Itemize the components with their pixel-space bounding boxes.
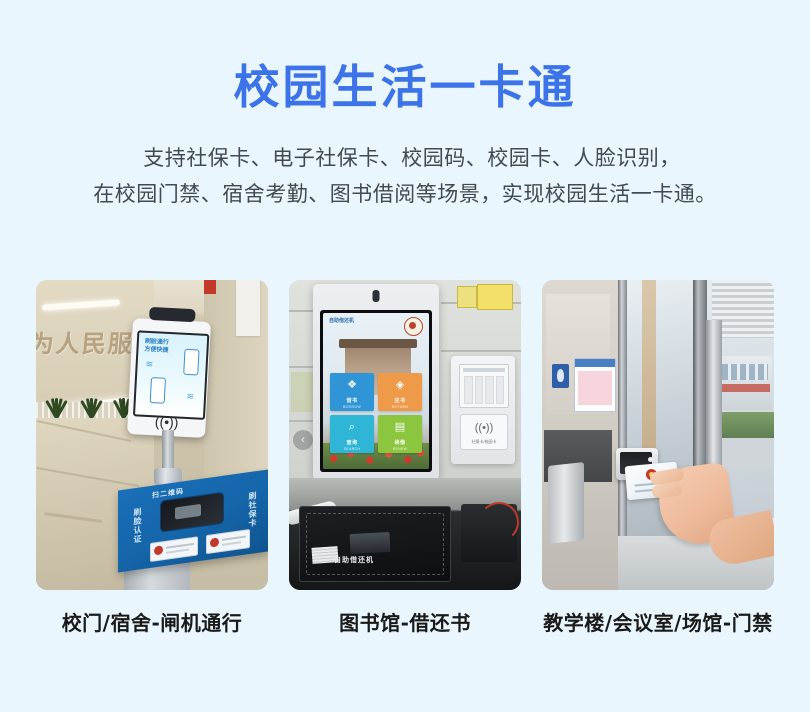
tile-label: 还书 (378, 397, 422, 404)
potted-plant (79, 392, 105, 418)
subtitle-line-2: 在校园门禁、宿舍考勤、图书借阅等场景，实现校园生活一卡通。 (0, 176, 810, 212)
gate-right-hint: 刷社保卡 (247, 491, 258, 529)
posted-paper-notice (236, 280, 260, 336)
face-recognition-terminal[interactable]: 刷脸通行方便快捷 ≋ ≋ ((•)) (127, 318, 211, 438)
poster-header (575, 359, 615, 367)
card-tap-pad[interactable]: ((•)) 社保卡/校园卡 (460, 414, 508, 450)
card-caption: 校门/宿舍-闸机通行 (36, 607, 268, 636)
subtitle-line-1: 支持社保卡、电子社保卡、校园码、校园卡、人脸识别， (0, 140, 810, 176)
card-text-line (222, 536, 246, 541)
phone-illustration (183, 349, 199, 376)
tile-sublabel: BORROW (330, 405, 374, 409)
kiosk-tile-renew[interactable]: ▤ 续借 RENEW (378, 415, 422, 453)
book-on-platform (350, 532, 391, 554)
scanner-glint (175, 504, 201, 520)
device-brand-text: 自助借还机 (334, 555, 374, 565)
wifi-wave-icon: ≋ (186, 391, 194, 402)
screen-header-text: 自助借还机 (329, 318, 354, 325)
red-cable (479, 502, 519, 542)
shelf-edge (441, 350, 521, 352)
search-icon: ⌕ (349, 422, 355, 433)
terminal-screen[interactable]: 刷脸通行方便快捷 ≋ ≋ (133, 330, 209, 420)
scenario-card-gate: 为人民服务 (36, 280, 268, 636)
red-notice-tag (204, 280, 216, 294)
wall-card-reader-panel[interactable]: ((•)) 社保卡/校园卡 (451, 356, 515, 464)
back-arrow-icon: ‹ (293, 430, 313, 450)
kiosk-screen[interactable]: 自助借还机 ❖ 借书 BORROW (323, 313, 429, 469)
emblem-dot-icon (210, 537, 219, 547)
card-sample-image (150, 536, 198, 562)
photo-door-access (542, 280, 774, 590)
kiosk-tile-grid: ❖ 借书 BORROW ◈ 还书 RETURN (330, 373, 422, 453)
instruction-board (459, 364, 509, 408)
page-title: 校园生活一卡通 (0, 0, 810, 110)
card-caption: 图书馆-借还书 (289, 607, 521, 636)
potted-plant (44, 392, 70, 418)
school-emblem-icon (404, 317, 423, 336)
card-caption: 教学楼/会议室/场馆-门禁 (542, 607, 774, 636)
gate-left-hint: 刷脸认证 (132, 507, 143, 545)
card-text-line (166, 549, 189, 554)
kiosk-screen-bezel: 自助借还机 ❖ 借书 BORROW (320, 310, 432, 472)
poster-body (578, 371, 612, 405)
tile-label: 续借 (378, 439, 422, 446)
photo-gate-turnstile: 为人民服务 (36, 280, 268, 590)
scenario-card-list: 为人民服务 (0, 280, 810, 636)
indoor-turnstile (548, 462, 584, 544)
scenario-card-library: ‹ 自助借还机 ❖ 借书 (289, 280, 521, 636)
reader-label: 社保卡/校园卡 (461, 439, 507, 445)
camera-icon (373, 290, 380, 302)
book-scan-platform[interactable]: 自助借还机 (299, 506, 451, 582)
board-header (463, 368, 505, 372)
restroom-sign-icon (552, 364, 569, 388)
card-text-line (166, 543, 194, 549)
reader-indicator-icon (648, 457, 653, 462)
poster-page: 校园生活一卡通 支持社保卡、电子社保卡、校园码、校园卡、人脸识别， 在校园门禁、… (0, 0, 810, 712)
board-columns (464, 376, 504, 404)
yellow-sign (457, 286, 477, 308)
kiosk-tile-search[interactable]: ⌕ 查询 SEARCH (330, 415, 374, 453)
card-text-line (222, 541, 241, 546)
wall-notice-poster (574, 358, 616, 412)
card-icon: ▤ (395, 422, 405, 433)
scenario-card-access: 教学楼/会议室/场馆-门禁 (542, 280, 774, 636)
tile-label: 查询 (330, 439, 374, 446)
self-service-kiosk[interactable]: 自助借还机 ❖ 借书 BORROW (313, 284, 439, 480)
box-icon: ◈ (396, 380, 404, 391)
nfc-icon: ((•)) (475, 422, 494, 434)
card-sample-image (206, 529, 250, 554)
emblem-dot-icon (154, 545, 163, 555)
outdoor-windows (722, 364, 768, 380)
kiosk-tile-return[interactable]: ◈ 还书 RETURN (378, 373, 422, 411)
phone-illustration (150, 377, 166, 404)
yellow-sign (477, 284, 513, 310)
camera-icon (149, 307, 196, 322)
outdoor-red-banner (722, 384, 770, 392)
terminal-screen-text: 刷脸通行方便快捷 (144, 338, 169, 355)
tile-label: 借书 (330, 397, 374, 404)
tile-sublabel: RENEW (378, 447, 422, 451)
photo-library-kiosk: ‹ 自助借还机 ❖ 借书 (289, 280, 521, 590)
book-icon: ❖ (347, 380, 357, 391)
tile-sublabel: SEARCH (330, 447, 374, 451)
page-subtitle: 支持社保卡、电子社保卡、校园码、校园卡、人脸识别， 在校园门禁、宿舍考勤、图书借… (0, 110, 810, 212)
kiosk-tile-borrow[interactable]: ❖ 借书 BORROW (330, 373, 374, 411)
wifi-wave-icon: ≋ (145, 359, 153, 370)
tile-sublabel: RETURN (378, 405, 422, 409)
nfc-icon: ((•)) (155, 413, 179, 430)
